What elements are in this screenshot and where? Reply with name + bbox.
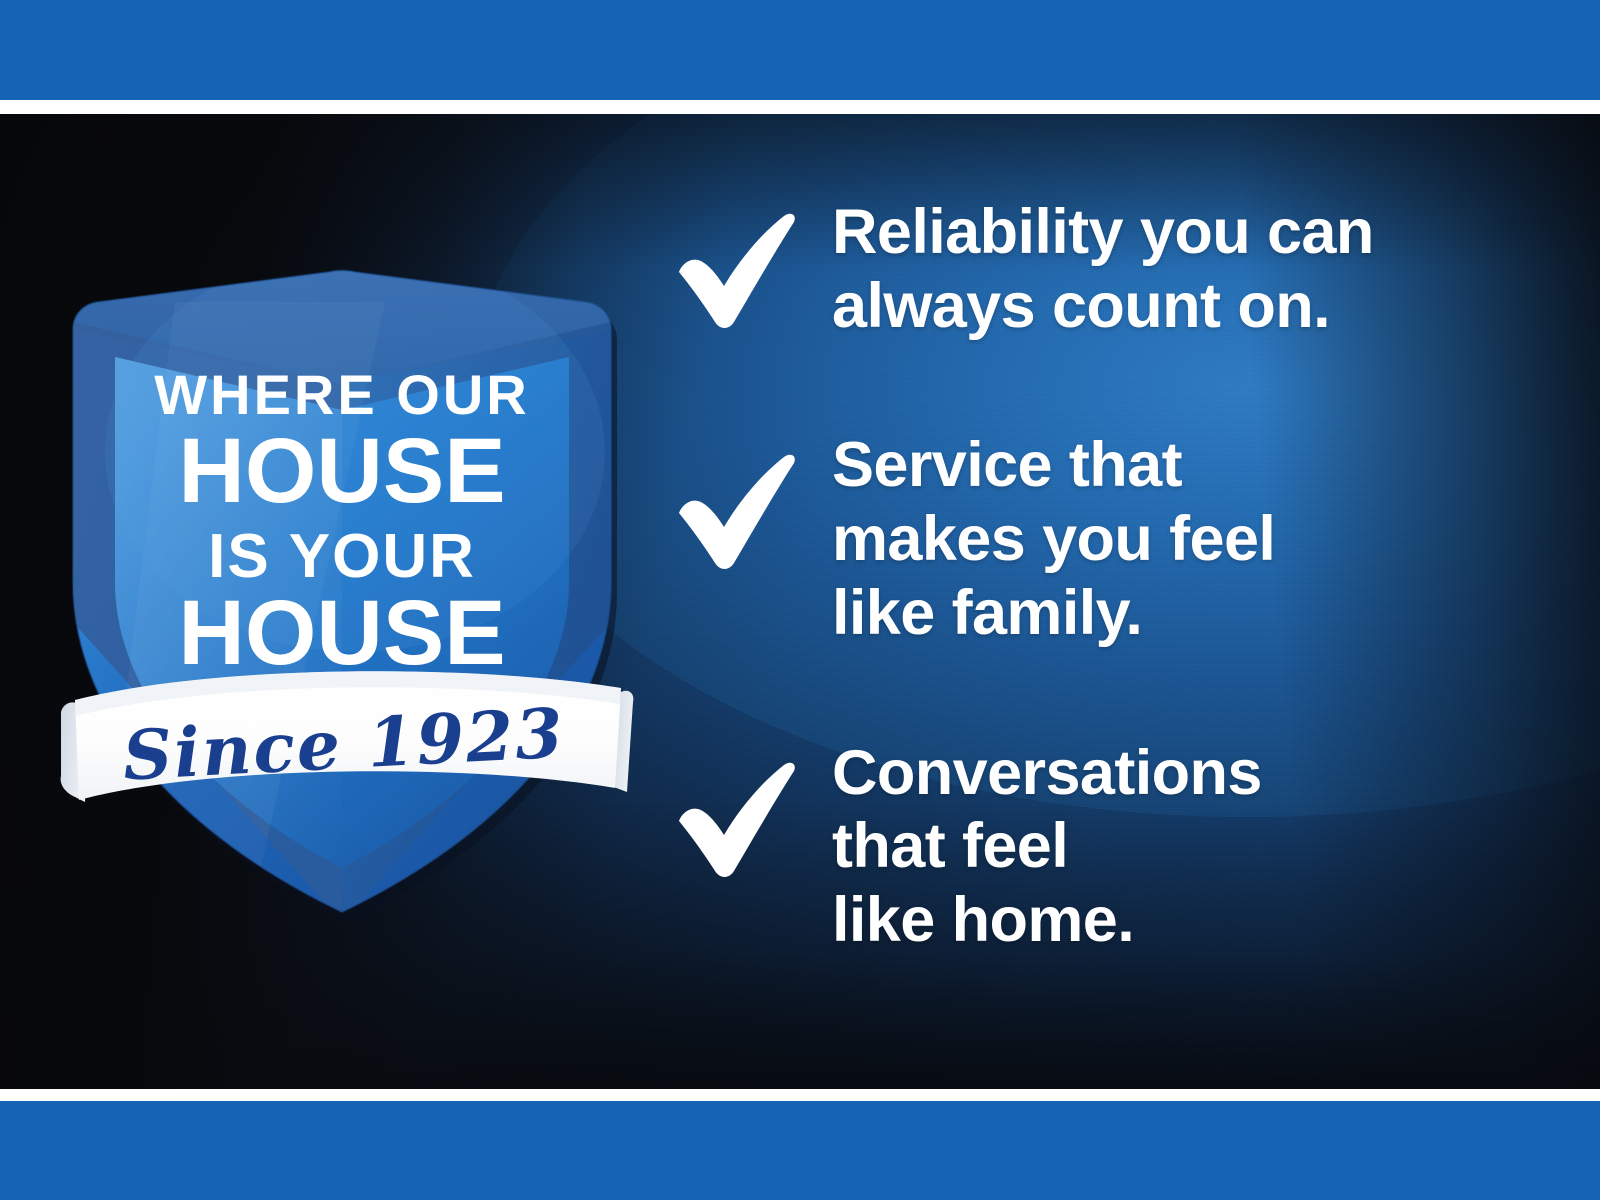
- bottom-brand-bar: [0, 1101, 1600, 1200]
- shield-emblem: WHERE OUR HOUSE IS YOUR HOUSE Since 1923: [55, 152, 630, 942]
- shield-line-2: HOUSE: [178, 420, 505, 522]
- shield-line-4: HOUSE: [178, 582, 505, 684]
- benefit-text: Service that makes you feel like family.: [832, 429, 1512, 650]
- since-ribbon: Since 1923: [61, 671, 634, 802]
- shield-text-block: WHERE OUR HOUSE IS YOUR HOUSE: [154, 363, 529, 684]
- benefit-text: Reliability you can always count on.: [832, 196, 1512, 343]
- check-icon: [672, 210, 798, 328]
- benefits-list: Reliability you can always count on. Ser…: [672, 196, 1512, 958]
- benefit-item: Reliability you can always count on.: [672, 196, 1512, 343]
- top-brand-bar: [0, 0, 1600, 100]
- benefit-item: Conversations that feel like home.: [672, 737, 1512, 958]
- benefit-text: Conversations that feel like home.: [832, 737, 1512, 958]
- check-icon: [672, 451, 798, 569]
- top-white-rule: [0, 100, 1600, 114]
- promo-banner: WHERE OUR HOUSE IS YOUR HOUSE Since 1923: [0, 0, 1600, 1200]
- shield-line-3: IS YOUR: [208, 522, 476, 591]
- shield-line-1: WHERE OUR: [154, 363, 529, 426]
- benefit-item: Service that makes you feel like family.: [672, 429, 1512, 650]
- bottom-white-rule: [0, 1089, 1600, 1101]
- check-icon: [672, 759, 798, 877]
